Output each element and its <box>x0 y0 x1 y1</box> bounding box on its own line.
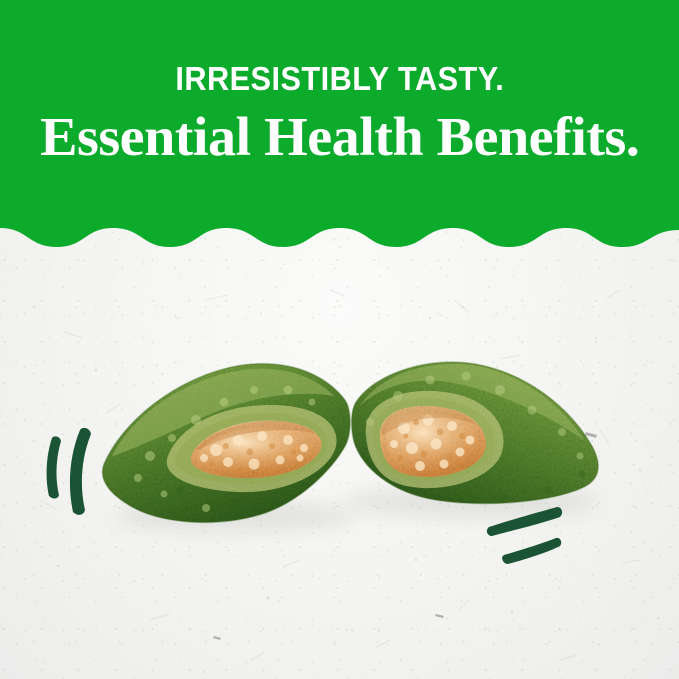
motion-marks-left <box>47 428 91 515</box>
advertisement-canvas: IRRESISTIBLY TASTY. Essential Health Ben… <box>0 0 679 679</box>
product-illustration <box>0 250 679 679</box>
product-scene <box>0 250 679 679</box>
green-snack-piece-right <box>352 362 599 508</box>
banner-wave-shape <box>0 0 679 250</box>
green-banner <box>0 0 679 250</box>
